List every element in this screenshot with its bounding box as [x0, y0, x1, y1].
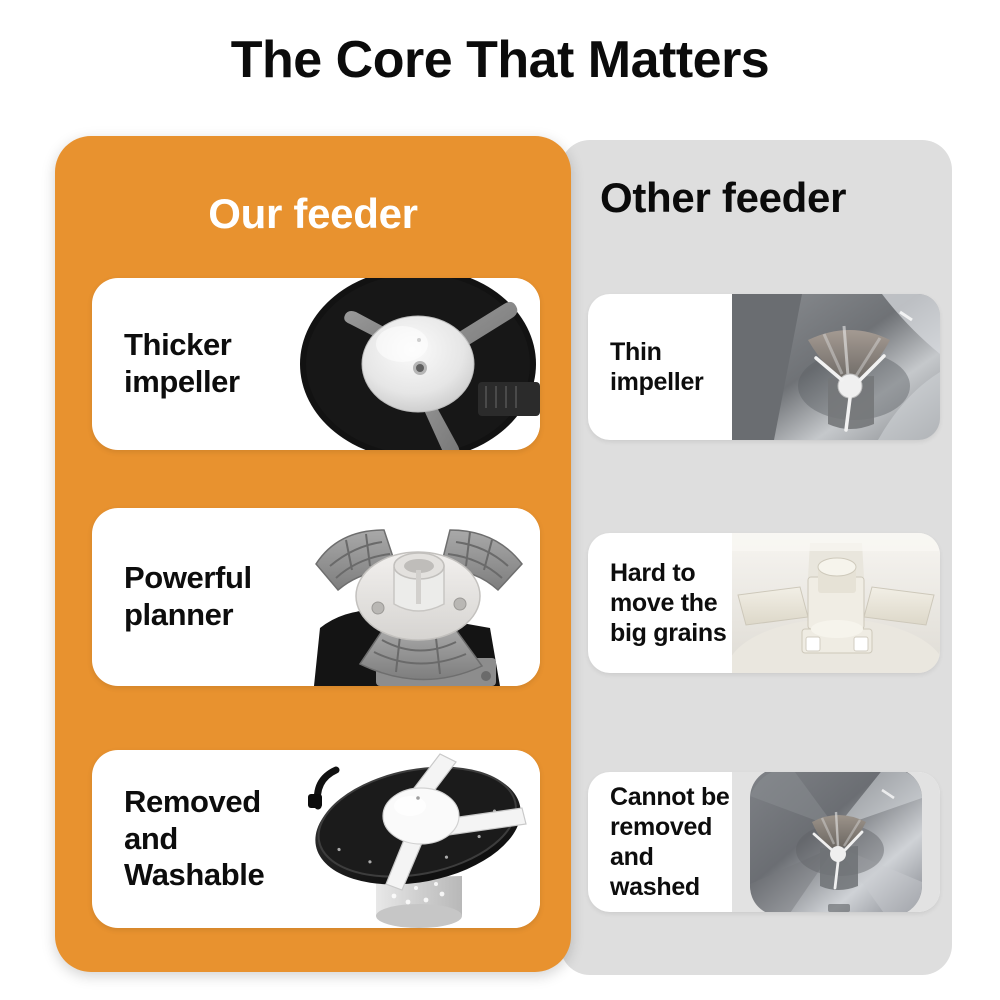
column-heading-ours: Our feeder: [55, 190, 571, 238]
removable-washable-photo: [290, 750, 540, 928]
thicker-impeller-photo: [290, 278, 540, 450]
thin-impeller-photo: [732, 294, 940, 440]
card-other-thin-impeller[interactable]: Thin impeller: [588, 294, 940, 440]
fixed-hopper-photo: [732, 772, 940, 912]
comparison-infographic: The Core That Matters Other feeder Our f…: [0, 0, 1000, 1000]
powerful-planner-photo: [290, 508, 540, 686]
card-label: Hard to move the big grains: [588, 558, 736, 648]
card-ours-thicker-impeller[interactable]: Thicker impeller: [92, 278, 540, 450]
card-label: Powerful planner: [92, 560, 307, 633]
card-ours-powerful-planner[interactable]: Powerful planner: [92, 508, 540, 686]
column-heading-other: Other feeder: [560, 174, 952, 222]
card-label: Thin impeller: [588, 337, 736, 397]
beige-impeller-photo: [732, 533, 940, 673]
card-other-hard-to-move-grains[interactable]: Hard to move the big grains: [588, 533, 940, 673]
card-label: Cannot be removed and washed: [588, 782, 736, 902]
page-title: The Core That Matters: [0, 30, 1000, 90]
card-label: Thicker impeller: [92, 327, 307, 400]
card-ours-removable-washable[interactable]: Removed and Washable: [92, 750, 540, 928]
card-other-cannot-remove-wash[interactable]: Cannot be removed and washed: [588, 772, 940, 912]
card-label: Removed and Washable: [92, 784, 307, 894]
